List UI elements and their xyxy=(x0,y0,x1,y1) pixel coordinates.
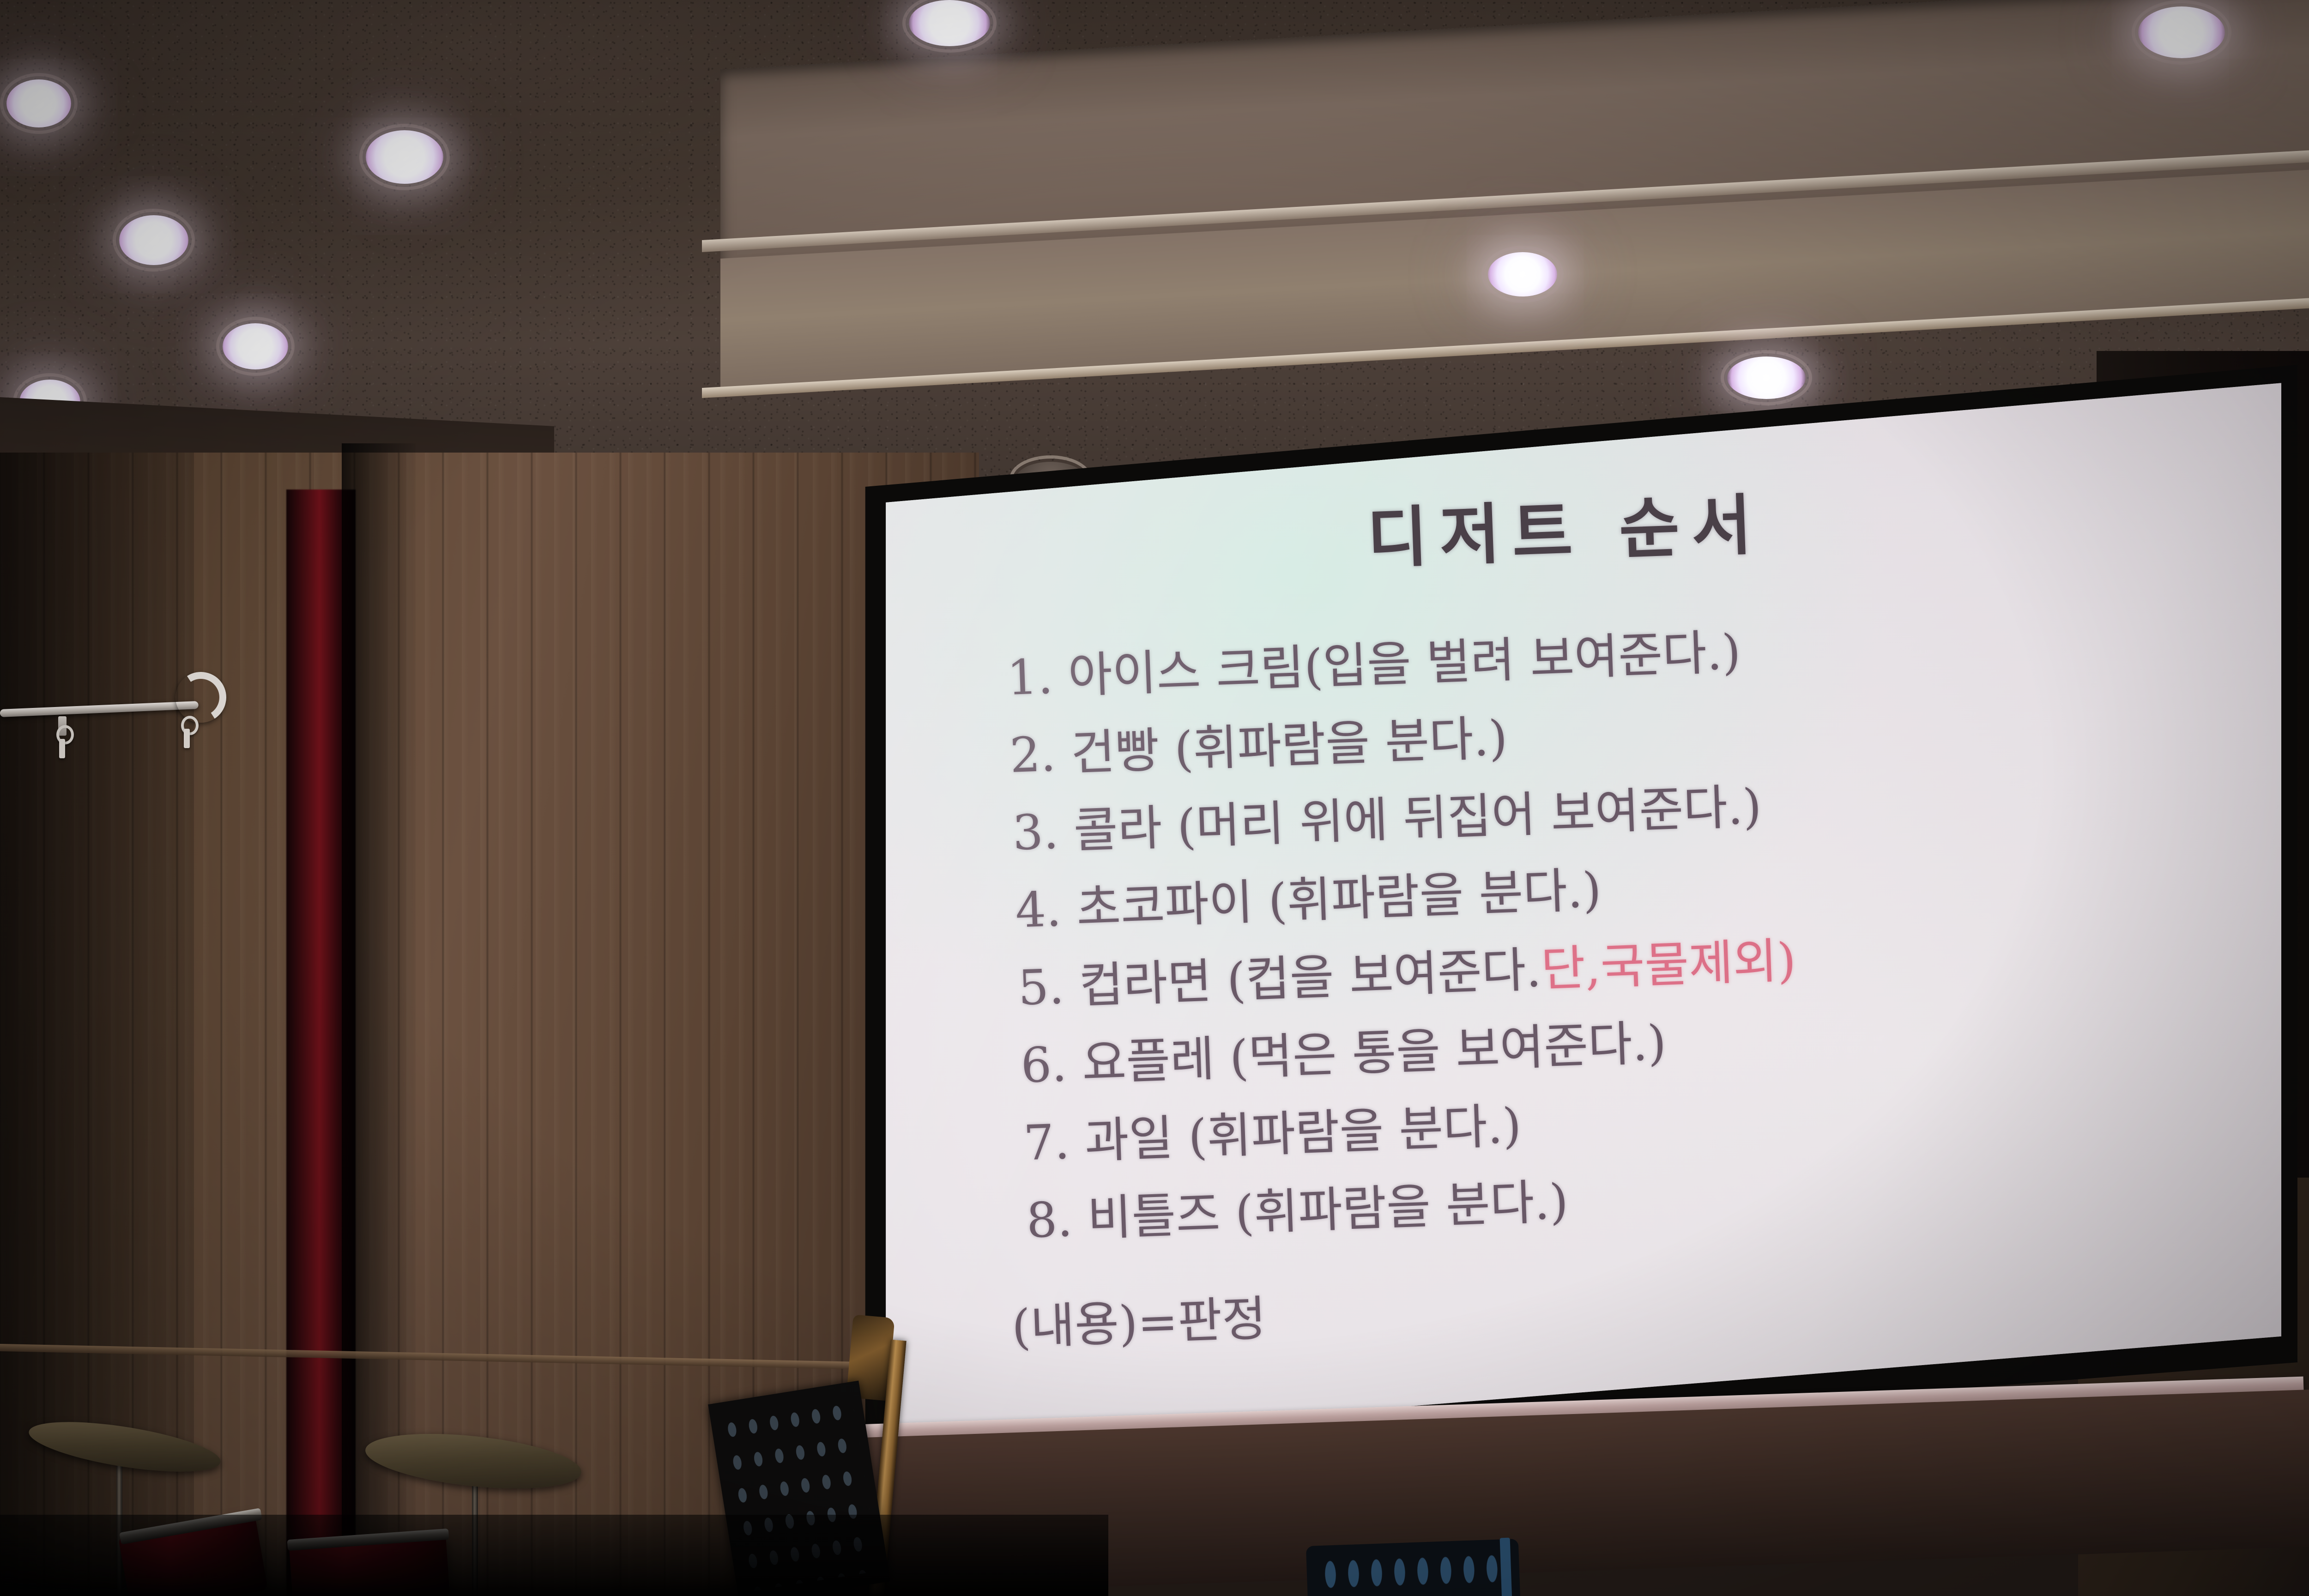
ceiling-light-icon-4 xyxy=(223,323,288,369)
ceiling-light-icon-3 xyxy=(119,215,188,265)
slide-list: 1. 아이스 크림(입을 벌려 보여준다.) 2. 건빵 (휘파람을 분다.) … xyxy=(1006,594,2274,1259)
ceiling-light-icon-7 xyxy=(1488,252,1557,296)
slide-list-item-5-main: 5. 컵라면 (컵을 보여준다. xyxy=(1017,941,1542,1016)
pillar-shadow xyxy=(342,443,416,1596)
ceiling-light-icon-9 xyxy=(1727,357,1806,399)
curtain-clip-2 xyxy=(184,729,190,748)
chair-back xyxy=(1306,1539,1520,1596)
presentation-slide: 디저트 순서 1. 아이스 크림(입을 벌려 보여준다.) 2. 건빵 (휘파람… xyxy=(877,379,2281,1455)
ceiling-light-icon-6 xyxy=(909,0,990,46)
curtain-clip-1 xyxy=(59,739,65,758)
slide-list-item-5-accent: 단,국물제외) xyxy=(1540,932,1797,997)
ceiling-light-icon-1 xyxy=(6,79,71,127)
floor-shadow xyxy=(0,1515,1108,1596)
slide-footer-note: (내용)=판정 xyxy=(1010,1279,1267,1358)
ceiling-light-icon-5 xyxy=(366,130,443,184)
projection-screen[interactable]: 디저트 순서 1. 아이스 크림(입을 벌려 보여준다.) 2. 건빵 (휘파람… xyxy=(877,379,2281,1455)
photo-scene: 디저트 순서 1. 아이스 크림(입을 벌려 보여준다.) 2. 건빵 (휘파람… xyxy=(0,0,2309,1596)
chair-slats xyxy=(1318,1548,1508,1596)
ceiling-light-icon-8 xyxy=(2138,6,2225,58)
